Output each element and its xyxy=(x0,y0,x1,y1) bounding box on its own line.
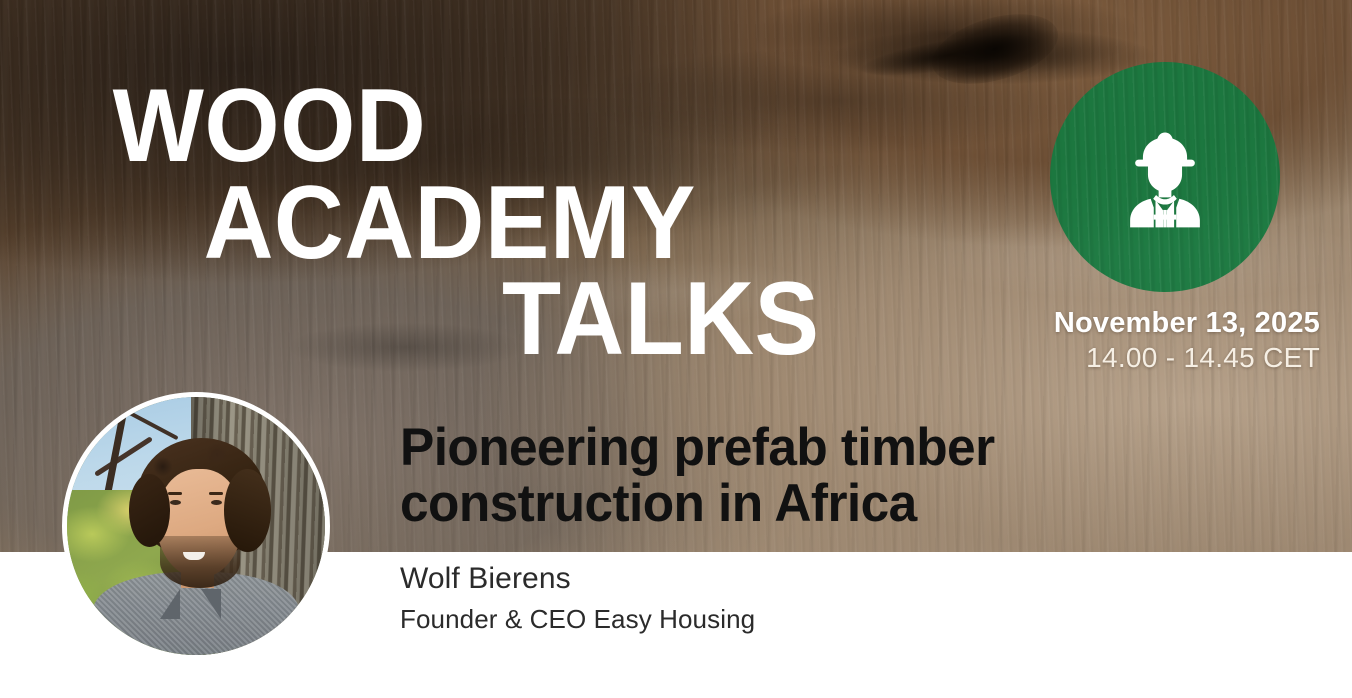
talk-headline-line-2: construction in Africa xyxy=(400,476,1118,532)
talk-headline: Pioneering prefab timber construction in… xyxy=(400,420,1140,532)
webinar-promo-banner: WOOD ACADEMY TALKS xyxy=(0,0,1352,698)
badge-circle xyxy=(1050,62,1280,292)
photo-eyebrow-left xyxy=(168,492,182,495)
speaker-info: Wolf Bierens Founder & CEO Easy Housing xyxy=(400,558,755,639)
photo-collar-left xyxy=(160,589,180,619)
photo-beard xyxy=(160,536,240,588)
brand-title: WOOD ACADEMY TALKS xyxy=(0,78,840,368)
event-date: November 13, 2025 xyxy=(860,306,1320,340)
talk-headline-line-1: Pioneering prefab timber xyxy=(400,420,1118,476)
photo-hair-left xyxy=(129,474,170,546)
photo-hair-right xyxy=(224,469,270,552)
construction-worker-icon xyxy=(1103,115,1227,239)
brand-title-line-3: TALKS xyxy=(59,271,840,368)
speaker-photo xyxy=(67,397,325,655)
brand-title-line-1: WOOD xyxy=(59,78,840,175)
brand-title-line-2: ACADEMY xyxy=(59,175,840,272)
photo-eyebrow-right xyxy=(209,492,223,495)
speaker-avatar xyxy=(62,392,330,660)
speaker-role: Founder & CEO Easy Housing xyxy=(400,600,755,639)
event-datetime: November 13, 2025 14.00 - 14.45 CET xyxy=(860,306,1320,375)
event-time: 14.00 - 14.45 CET xyxy=(860,340,1320,375)
photo-collar-right xyxy=(201,589,221,619)
speaker-name: Wolf Bierens xyxy=(400,558,755,600)
